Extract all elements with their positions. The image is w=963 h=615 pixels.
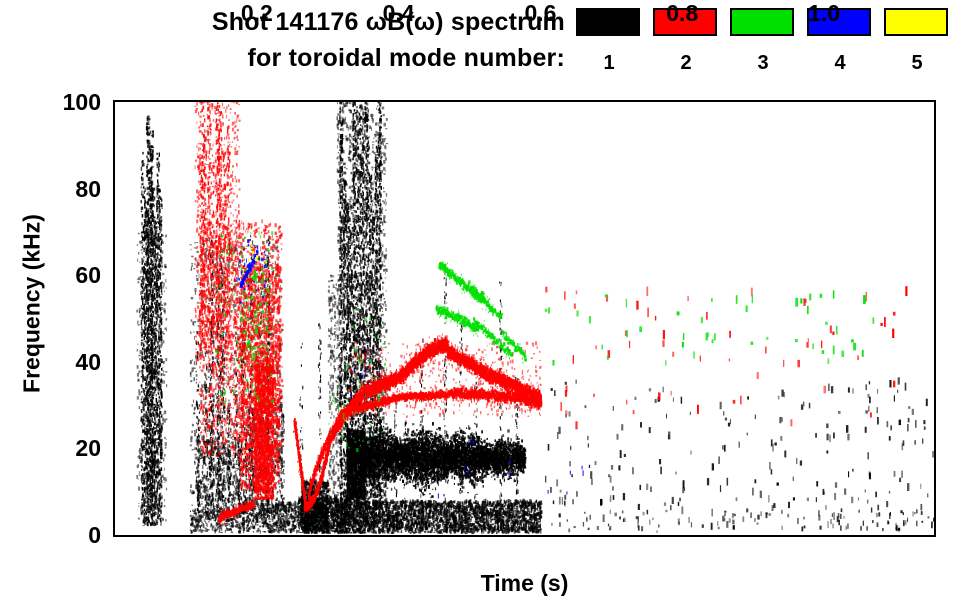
legend-label-2: 2 [653,52,719,74]
legend-entry-5: 5 [884,8,950,74]
x-axis-label: Time (s) [113,570,936,597]
y-tick-label: 100 [31,89,101,116]
legend-label-1: 1 [576,52,642,74]
x-tick-label: 0.6 [500,0,580,27]
x-tick-label: 0.2 [217,0,297,27]
x-tick-label: 1.0 [784,0,864,27]
y-tick-label: 80 [31,176,101,203]
y-tick-label: 0 [31,522,101,549]
legend: 1 2 3 4 5 [576,8,956,90]
y-tick-label: 20 [31,435,101,462]
legend-label-5: 5 [884,52,950,74]
legend-label-4: 4 [807,52,873,74]
y-tick-label: 60 [31,262,101,289]
x-tick-label: 0.4 [359,0,439,27]
y-tick-label: 40 [31,349,101,376]
x-tick-label: 0.8 [642,0,722,27]
legend-swatch-1 [576,8,640,36]
legend-entry-1: 1 [576,8,642,74]
spectrogram-canvas [115,102,934,535]
legend-swatch-5 [884,8,948,36]
spectrogram-figure: Shot 141176 ωB(ω) spectrum for toroidal … [0,0,963,615]
plot-area [113,100,936,537]
title-line-2: for toroidal mode number: [0,40,565,76]
legend-label-3: 3 [730,52,796,74]
